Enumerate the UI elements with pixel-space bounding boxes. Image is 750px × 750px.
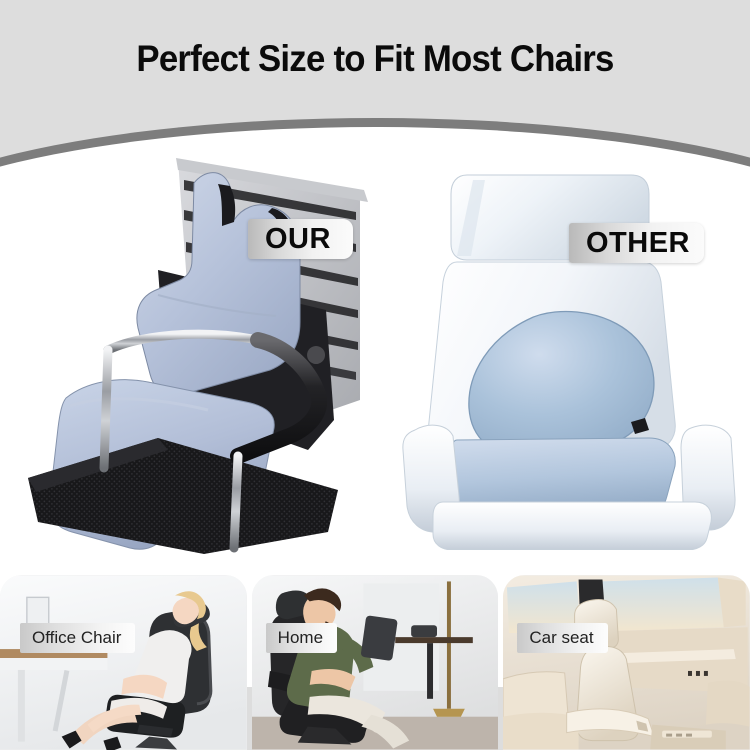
thumbnail-home[interactable]: Home — [252, 575, 499, 750]
our-badge-label: OUR — [265, 223, 331, 256]
thumbnail-label-home: Home — [266, 623, 337, 653]
car-seat-scene — [503, 575, 750, 750]
thumbnail-label-office-chair: Office Chair — [20, 623, 135, 653]
office-chair-scene — [0, 575, 247, 750]
other-badge: OTHER — [569, 223, 704, 263]
page-title: Perfect Size to Fit Most Chairs — [23, 38, 728, 80]
our-product-image — [8, 150, 383, 555]
thumbnail-label-car-seat: Car seat — [517, 623, 607, 653]
our-badge: OUR — [248, 219, 353, 259]
usage-scenario-thumbnails: Office Chair — [0, 575, 750, 750]
thumbnail-car-seat[interactable]: Car seat — [503, 575, 750, 750]
thumbnail-office-chair[interactable]: Office Chair — [0, 575, 247, 750]
other-product-image — [395, 150, 745, 550]
product-comparison-infographic: Perfect Size to Fit Most Chairs — [0, 0, 750, 750]
other-badge-label: OTHER — [586, 227, 690, 260]
home-scene — [252, 575, 499, 750]
